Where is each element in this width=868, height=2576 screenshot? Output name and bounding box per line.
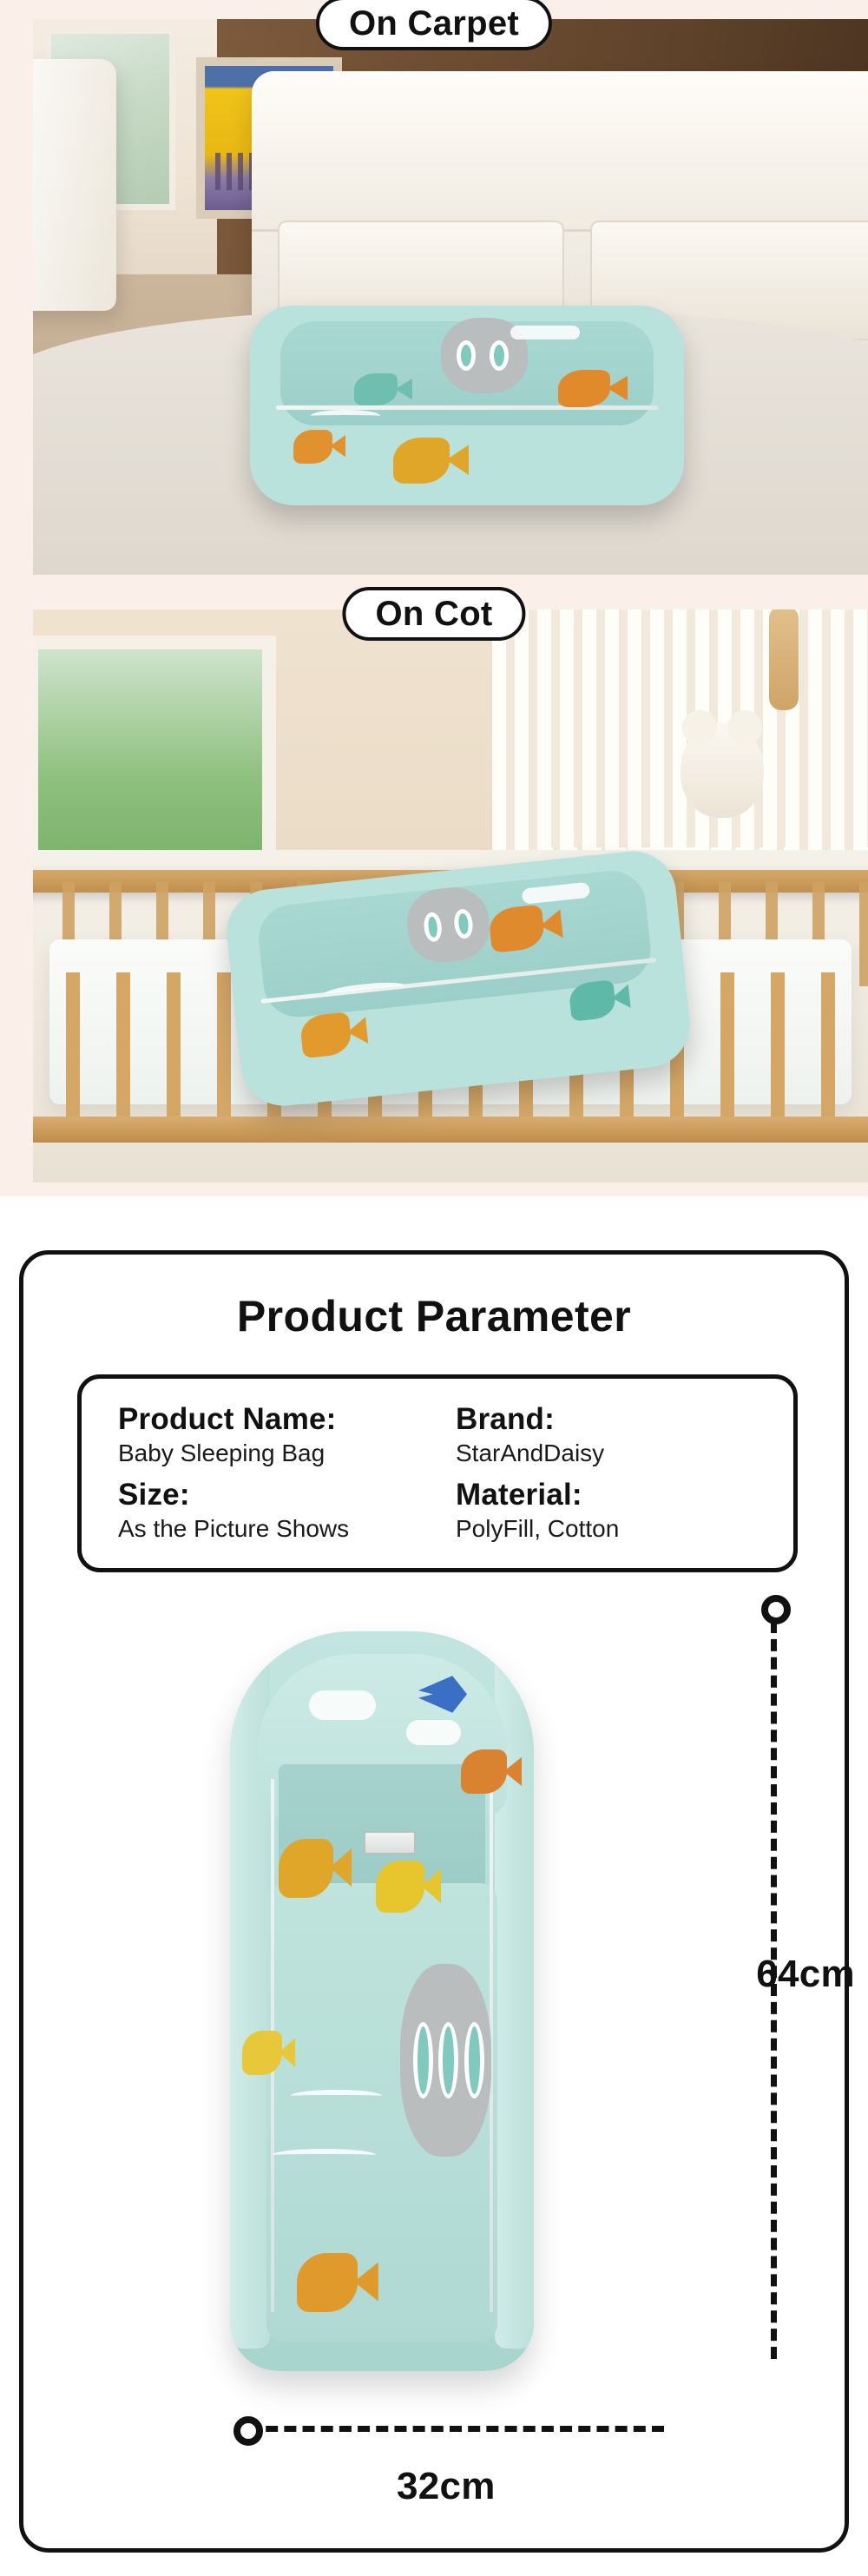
parameter-label: Brand: (456, 1402, 793, 1436)
parameter-value: PolyFill, Cotton (456, 1513, 793, 1545)
parameter-row-size: Size: As the Picture Shows (118, 1473, 456, 1549)
fish-motif (558, 370, 610, 408)
cloud-motif (309, 1690, 376, 1720)
dimension-endpoint-icon (761, 1595, 791, 1624)
brand-tag (364, 1831, 416, 1855)
fish-motif (461, 1749, 507, 1794)
sofa-backrest (252, 71, 868, 232)
photo-on-cot (33, 609, 868, 1183)
parameter-label: Product Name: (118, 1402, 456, 1436)
lace-curtain (492, 609, 868, 861)
fish-motif (376, 1861, 424, 1913)
fish-motif (279, 1839, 333, 1898)
product-sleeping-bag (250, 306, 684, 505)
submarine-window (453, 908, 474, 939)
parameter-value: StarAndDaisy (456, 1438, 793, 1469)
page-title: Product Parameter (23, 1291, 845, 1341)
submarine-window (464, 2022, 484, 2099)
parameter-label: Size: (118, 1478, 456, 1512)
submarine-window (423, 911, 444, 942)
zipper (276, 405, 658, 410)
fish-motif (299, 1011, 352, 1057)
badge-on-cot: On Cot (342, 587, 525, 641)
width-label: 32cm (397, 2465, 496, 2508)
cot-rail-front (33, 1117, 868, 1143)
parameter-value: As the Picture Shows (118, 1513, 456, 1545)
height-label: 64cm (756, 1953, 855, 1996)
cloud-motif (510, 326, 580, 339)
parameter-row-product-name: Product Name: Baby Sleeping Bag (118, 1398, 456, 1473)
sofa-armrest (33, 59, 116, 311)
cot-post (769, 609, 799, 710)
fish-motif (297, 2253, 358, 2312)
photo-on-carpet (33, 19, 868, 575)
parameter-table: Product Name: Baby Sleeping Bag Brand: S… (77, 1374, 798, 1572)
product-front-view (230, 1631, 534, 2371)
submarine-window (457, 340, 476, 371)
fish-motif (354, 373, 398, 405)
submarine-motif (400, 1964, 491, 2157)
dimension-endpoint-icon (233, 2416, 263, 2446)
submarine-window (490, 340, 509, 371)
sleeping-bag-body (250, 306, 684, 505)
parameter-value: Baby Sleeping Bag (118, 1438, 456, 1469)
lifestyle-photo-section: On Carpet (0, 0, 868, 1196)
parameter-row-material: Material: PolyFill, Cotton (456, 1473, 793, 1549)
fish-motif (293, 430, 332, 464)
submarine-window (438, 2022, 458, 2099)
fish-motif (393, 438, 450, 484)
wave-motif (311, 410, 380, 422)
width-dimension-line (247, 2426, 664, 2432)
sleeping-bag-body (230, 1631, 534, 2371)
fish-motif (242, 2031, 282, 2075)
parameter-label: Material: (456, 1478, 793, 1512)
submarine-window (413, 2022, 433, 2099)
badge-on-carpet: On Carpet (316, 0, 552, 50)
parameter-row-brand: Brand: StarAndDaisy (456, 1398, 793, 1473)
dimension-diagram: 64cm 32cm (23, 1602, 845, 2522)
product-parameter-card: Product Parameter Product Name: Baby Sle… (19, 1250, 849, 2553)
cloud-motif (406, 1720, 461, 1745)
teddy-bear (681, 722, 764, 818)
